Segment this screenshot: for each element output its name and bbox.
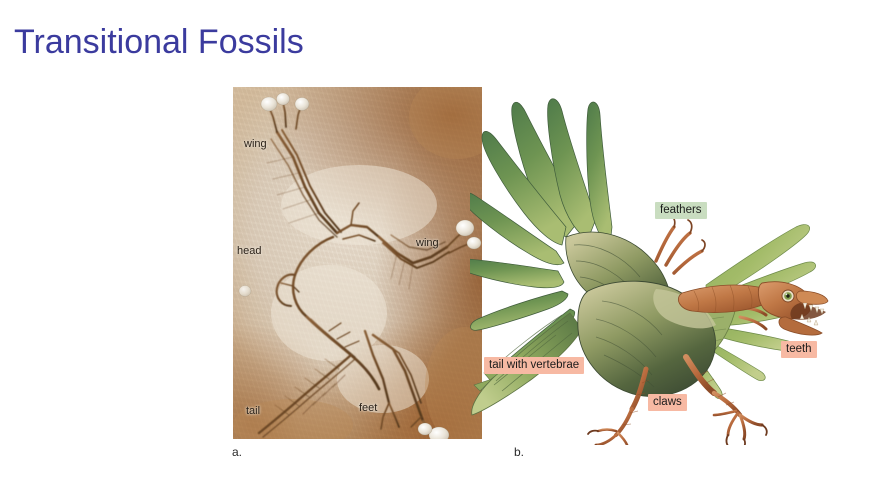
label-feathers: feathers <box>655 202 707 219</box>
label-tail-with-vertebrae: tail with vertebrae <box>484 357 584 374</box>
panel-caption-b: b. <box>514 445 524 459</box>
fossil-label-feet: feet <box>359 402 377 414</box>
figure-area: wing head wing tail feet <box>0 0 880 495</box>
fossil-label-wing-right: wing <box>416 237 439 249</box>
label-teeth: teeth <box>781 341 817 358</box>
label-claws: claws <box>648 394 687 411</box>
archaeopteryx-illustration <box>470 85 830 445</box>
fossil-label-head: head <box>237 245 261 257</box>
slide: Transitional Fossils <box>0 0 880 495</box>
fossil-skeleton-illustration <box>233 87 482 439</box>
panel-caption-a: a. <box>232 445 242 459</box>
fossil-label-tail: tail <box>246 405 260 417</box>
archaeopteryx-panel: feathers teeth tail with vertebrae claws <box>470 85 830 445</box>
fossil-panel: wing head wing tail feet <box>233 87 482 439</box>
fossil-photograph: wing head wing tail feet <box>233 87 482 439</box>
fossil-label-wing-top: wing <box>244 138 267 150</box>
